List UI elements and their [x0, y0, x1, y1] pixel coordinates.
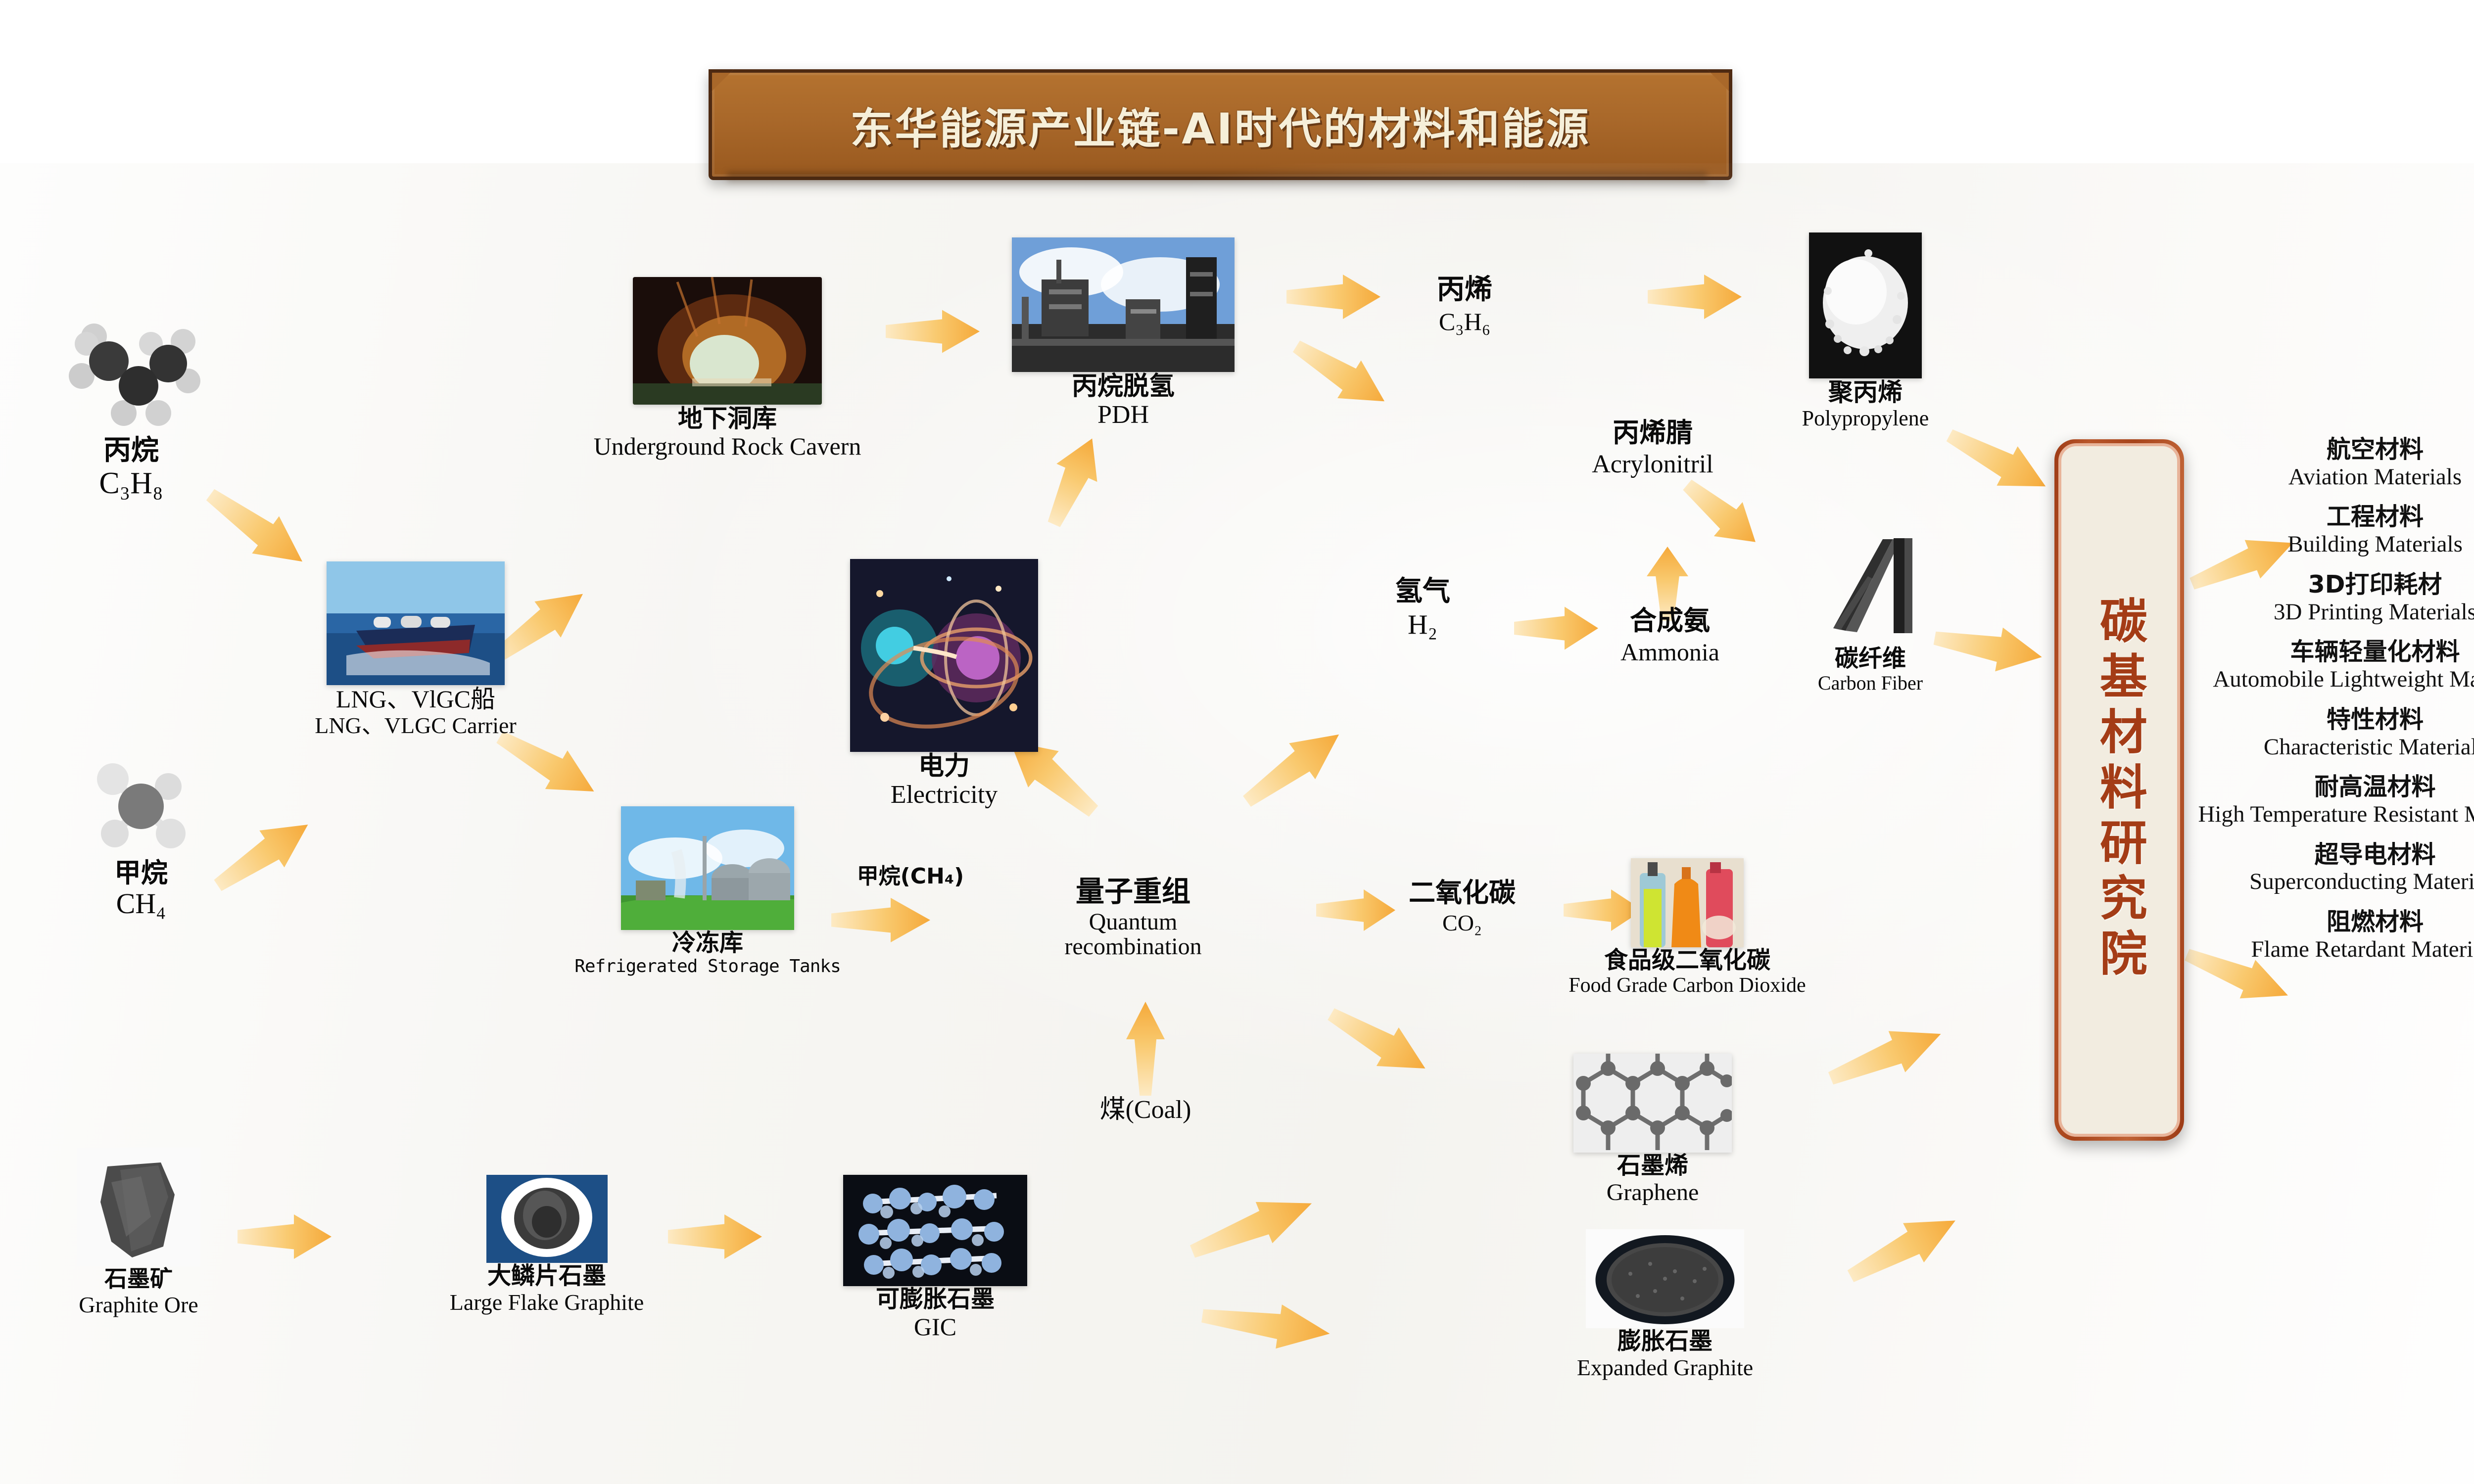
node-flake-graphite: 大鳞片石墨 Large Flake Graphite	[406, 1175, 688, 1315]
node-propylene-label-cn: 丙烯	[1380, 267, 1549, 307]
material-label-cn: 车辆轻量化材料	[2192, 638, 2474, 666]
gic-layers-photo-icon	[843, 1175, 1027, 1286]
edge-label-coal-feed: 煤(Coal)	[1064, 1088, 1227, 1125]
material-label-cn: 3D打印耗材	[2192, 570, 2474, 599]
institute-plaque: 碳基材料研究院	[2054, 439, 2184, 1141]
node-propane-label-en: C₃H₈	[99, 466, 163, 501]
node-graphene-label-en: Graphene	[1607, 1179, 1699, 1206]
node-co2: 二氧化碳 CO₂	[1380, 871, 1544, 936]
arrow-propylene-to-pp	[1648, 275, 1742, 319]
node-acrylonitrile-label-cn: 丙烯腈	[1549, 411, 1757, 450]
methane-molecule-icon	[79, 752, 203, 858]
node-quantum-label-cn: 量子重组	[1029, 868, 1237, 910]
arrow-methane-to-carrier	[205, 806, 321, 904]
node-methane-label-cn: 甲烷	[114, 858, 168, 888]
node-polypropylene: 聚丙烯 Polypropylene	[1766, 232, 1964, 430]
node-hydrogen-label-cn: 氢气	[1351, 569, 1494, 609]
material-label-en: Flame Retardant Materials	[2192, 936, 2474, 963]
diagram-canvas: 东华能源产业链-AI时代的材料和能源	[0, 0, 2474, 1484]
node-polypropylene-label-cn: 聚丙烯	[1802, 378, 1929, 406]
node-graphene-label-cn: 石墨烯	[1607, 1153, 1699, 1179]
node-food-grade-co2-label-en: Food Grade Carbon Dioxide	[1569, 974, 1806, 997]
node-quantum-label-en: Quantum recombination	[1029, 910, 1237, 959]
node-propylene-label-en: C₃H₆	[1380, 307, 1549, 336]
propane-molecule-icon	[57, 307, 205, 435]
node-hydrogen: 氢气 H₂	[1351, 569, 1494, 641]
material-label-cn: 工程材料	[2192, 503, 2474, 531]
node-food-grade-co2-caption: 食品级二氧化碳 Food Grade Carbon Dioxide	[1569, 947, 1806, 997]
node-expanded-graphite-label-en: Expanded Graphite	[1577, 1355, 1753, 1381]
node-carbon-fiber-label-cn: 碳纤维	[1818, 646, 1923, 672]
storage-tanks-photo-icon	[621, 806, 794, 930]
material-label-en: 3D Printing Materials	[2192, 599, 2474, 625]
pp-pellets-photo-icon	[1809, 232, 1922, 378]
node-flake-graphite-label-cn: 大鳞片石墨	[450, 1263, 644, 1290]
material-label-en: Superconducting Materials	[2192, 869, 2474, 895]
carbon-fiber-photo-icon	[1818, 529, 1922, 646]
node-ammonia-label-cn: 合成氨	[1583, 599, 1757, 638]
arrow-food-co2-to-institute	[1822, 1013, 1949, 1099]
arrow-gic-to-graphene	[1184, 1183, 1320, 1272]
material-item: 工程材料 Building Materials	[2192, 503, 2474, 557]
node-gic-label-en: GIC	[876, 1313, 995, 1341]
node-pdh-label-cn: 丙烷脱氢	[1072, 372, 1175, 401]
arrow-expanded-graphite-to-institute	[1840, 1201, 1966, 1296]
node-electricity-caption: 电力 Electricity	[891, 752, 998, 809]
node-rock-cavern-caption: 地下洞库 Underground Rock Cavern	[594, 405, 861, 460]
quantum-energy-photo-icon	[850, 559, 1038, 752]
node-flake-graphite-caption: 大鳞片石墨 Large Flake Graphite	[450, 1263, 644, 1315]
node-electricity-label-en: Electricity	[891, 781, 998, 809]
material-label-cn: 特性材料	[2192, 705, 2474, 734]
graphite-ore-photo-icon	[77, 1148, 200, 1266]
node-refrigerated-tanks-label-en: Refrigerated Storage Tanks	[574, 957, 841, 976]
material-item: 车辆轻量化材料 Automobile Lightweight Materials	[2192, 638, 2474, 692]
node-ammonia: 合成氨 Ammonia	[1583, 599, 1757, 666]
node-graphite-ore-label-cn: 石墨矿	[79, 1266, 198, 1292]
arrow-coal-to-quantum	[1126, 1002, 1165, 1096]
node-gic-label-cn: 可膨胀石墨	[876, 1286, 995, 1313]
material-label-cn: 耐高温材料	[2192, 773, 2474, 801]
graphene-lattice-photo-icon	[1573, 1054, 1732, 1153]
node-expanded-graphite-caption: 膨胀石墨 Expanded Graphite	[1577, 1328, 1753, 1380]
arrow-cavern-to-pdh	[886, 310, 980, 353]
material-label-en: Aviation Materials	[2192, 464, 2474, 490]
node-graphite-ore: 石墨矿 Graphite Ore	[54, 1148, 223, 1317]
node-graphene-caption: 石墨烯 Graphene	[1607, 1153, 1699, 1206]
material-label-en: Automobile Lightweight Materials	[2192, 666, 2474, 693]
node-methane-label-en: CH₄	[114, 888, 168, 920]
node-acrylonitrile-label-en: Acrylonitril	[1549, 450, 1757, 479]
node-propane: 丙烷 C₃H₈	[49, 307, 213, 501]
beverage-bottles-photo-icon	[1631, 858, 1744, 947]
node-expanded-graphite-label-cn: 膨胀石墨	[1577, 1328, 1753, 1355]
material-item: 航空材料 Aviation Materials	[2192, 435, 2474, 490]
node-expanded-graphite: 膨胀石墨 Expanded Graphite	[1561, 1229, 1769, 1380]
node-rock-cavern: 地下洞库 Underground Rock Cavern	[559, 277, 896, 460]
node-quantum-recombination: 量子重组 Quantum recombination	[1029, 868, 1237, 959]
node-gic-caption: 可膨胀石墨 GIC	[876, 1286, 995, 1341]
material-label-cn: 阻燃材料	[2192, 908, 2474, 936]
node-propane-caption: 丙烷 C₃H₈	[99, 435, 163, 501]
node-polypropylene-label-en: Polypropylene	[1802, 406, 1929, 430]
node-lng-carrier: LNG、VlGC船 LNG、VLGC Carrier	[297, 561, 534, 739]
node-propylene: 丙烯 C₃H₆	[1380, 267, 1549, 336]
lng-carrier-photo-icon	[327, 561, 505, 685]
arrow-gic-to-expanded-graphite	[1199, 1294, 1333, 1355]
node-electricity: 电力 Electricity	[850, 559, 1038, 809]
node-rock-cavern-label-en: Underground Rock Cavern	[594, 432, 861, 460]
material-item: 特性材料 Characteristic Materials	[2192, 705, 2474, 760]
institute-plaque-panel: 碳基材料研究院	[2058, 443, 2180, 1137]
node-graphite-ore-label-en: Graphite Ore	[79, 1292, 198, 1318]
node-refrigerated-tanks-caption: 冷冻库 Refrigerated Storage Tanks	[574, 930, 841, 976]
material-label-en: Characteristic Materials	[2192, 734, 2474, 760]
node-propane-label-cn: 丙烷	[99, 435, 163, 466]
node-co2-label-cn: 二氧化碳	[1380, 871, 1544, 910]
arrow-electricity-to-pdh	[1034, 429, 1112, 533]
node-carbon-fiber-label-en: Carbon Fiber	[1818, 672, 1923, 695]
arrow-pdh-to-propylene	[1286, 275, 1380, 319]
node-lng-carrier-caption: LNG、VlGC船 LNG、VLGC Carrier	[315, 685, 517, 739]
material-item: 耐高温材料 High Temperature Resistant Materia…	[2192, 773, 2474, 827]
rock-cavern-photo-icon	[633, 277, 822, 405]
material-item: 阻燃材料 Flame Retardant Materials	[2192, 908, 2474, 962]
node-graphene: 石墨烯 Graphene	[1569, 1054, 1737, 1206]
flake-graphite-photo-icon	[486, 1175, 608, 1263]
arrow-electricity-to-hydrogen	[1234, 716, 1352, 819]
node-acrylonitrile: 丙烯腈 Acrylonitril	[1549, 411, 1757, 479]
node-methane-caption: 甲烷 CH₄	[114, 858, 168, 920]
edge-label-methane-feed: 甲烷(CH₄)	[836, 858, 985, 890]
arrow-tanks-to-quantum	[831, 898, 930, 942]
node-carbon-fiber: 碳纤维 Carbon Fiber	[1781, 529, 1959, 695]
node-hydrogen-label-en: H₂	[1351, 609, 1494, 641]
node-refrigerated-tanks: 冷冻库 Refrigerated Storage Tanks	[571, 806, 844, 976]
material-label-en: Building Materials	[2192, 531, 2474, 557]
node-food-grade-co2: 食品级二氧化碳 Food Grade Carbon Dioxide	[1544, 858, 1831, 997]
arrow-pdh-to-acrylonitrile	[1285, 327, 1396, 420]
node-graphite-ore-caption: 石墨矿 Graphite Ore	[79, 1266, 198, 1317]
arrow-ore-to-flake	[238, 1214, 332, 1259]
node-methane: 甲烷 CH₄	[69, 752, 213, 920]
material-label-cn: 超导电材料	[2192, 840, 2474, 869]
node-polypropylene-caption: 聚丙烯 Polypropylene	[1802, 378, 1929, 430]
arrow-quantum-to-graphene	[1320, 995, 1437, 1088]
node-ammonia-label-en: Ammonia	[1583, 638, 1757, 666]
node-pdh-caption: 丙烷脱氢 PDH	[1072, 372, 1175, 429]
material-item: 3D打印耗材 3D Printing Materials	[2192, 570, 2474, 625]
node-lng-carrier-label-en: LNG、VLGC Carrier	[315, 713, 517, 739]
node-flake-graphite-label-en: Large Flake Graphite	[450, 1290, 644, 1315]
expanded-graphite-photo-icon	[1586, 1229, 1744, 1328]
node-carbon-fiber-caption: 碳纤维 Carbon Fiber	[1818, 646, 1923, 695]
pdh-plant-photo-icon	[1012, 237, 1235, 372]
node-pdh: 丙烷脱氢 PDH	[1007, 237, 1239, 429]
materials-list: 航空材料 Aviation Materials 工程材料 Building Ma…	[2192, 435, 2474, 975]
node-electricity-label-cn: 电力	[891, 752, 998, 781]
node-refrigerated-tanks-label-cn: 冷冻库	[574, 930, 841, 957]
node-rock-cavern-label-cn: 地下洞库	[594, 405, 861, 432]
node-lng-carrier-label-cn: LNG、VlGC船	[315, 685, 517, 713]
node-gic: 可膨胀石墨 GIC	[831, 1175, 1039, 1341]
institute-name: 碳基材料研究院	[2089, 596, 2150, 984]
material-label-cn: 航空材料	[2192, 435, 2474, 464]
node-co2-label-en: CO₂	[1380, 910, 1544, 936]
node-food-grade-co2-label-cn: 食品级二氧化碳	[1569, 947, 1806, 974]
material-item: 超导电材料 Superconducting Materials	[2192, 840, 2474, 895]
node-pdh-label-en: PDH	[1072, 401, 1175, 429]
arrow-acrylonitrile-to-carbon-fiber	[1673, 468, 1770, 559]
material-label-en: High Temperature Resistant Materials	[2192, 801, 2474, 828]
